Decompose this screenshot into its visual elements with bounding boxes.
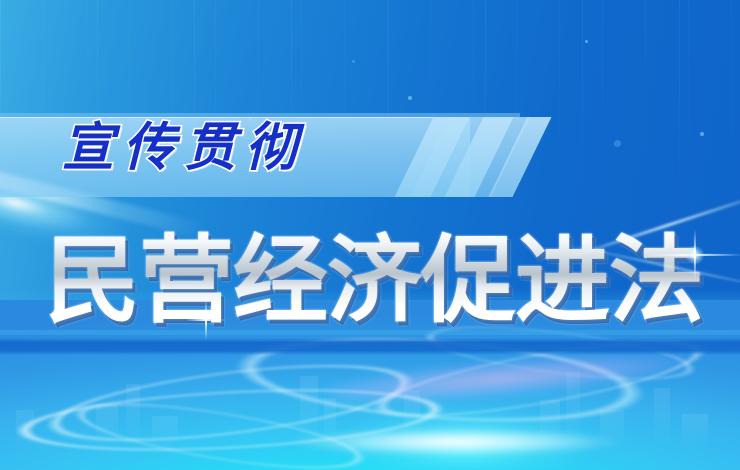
sparkle-star-icon <box>672 232 718 278</box>
main-title: 民营经济促进法 <box>44 226 704 336</box>
star-core <box>682 242 708 268</box>
dark-blue-band <box>0 338 740 355</box>
kicker-text: 宣传贯彻 <box>62 122 306 174</box>
poster-canvas: 宣传贯彻 民营经济促进法 民营经济促进法 <box>0 0 740 470</box>
bottom-glow-arc <box>240 424 670 460</box>
